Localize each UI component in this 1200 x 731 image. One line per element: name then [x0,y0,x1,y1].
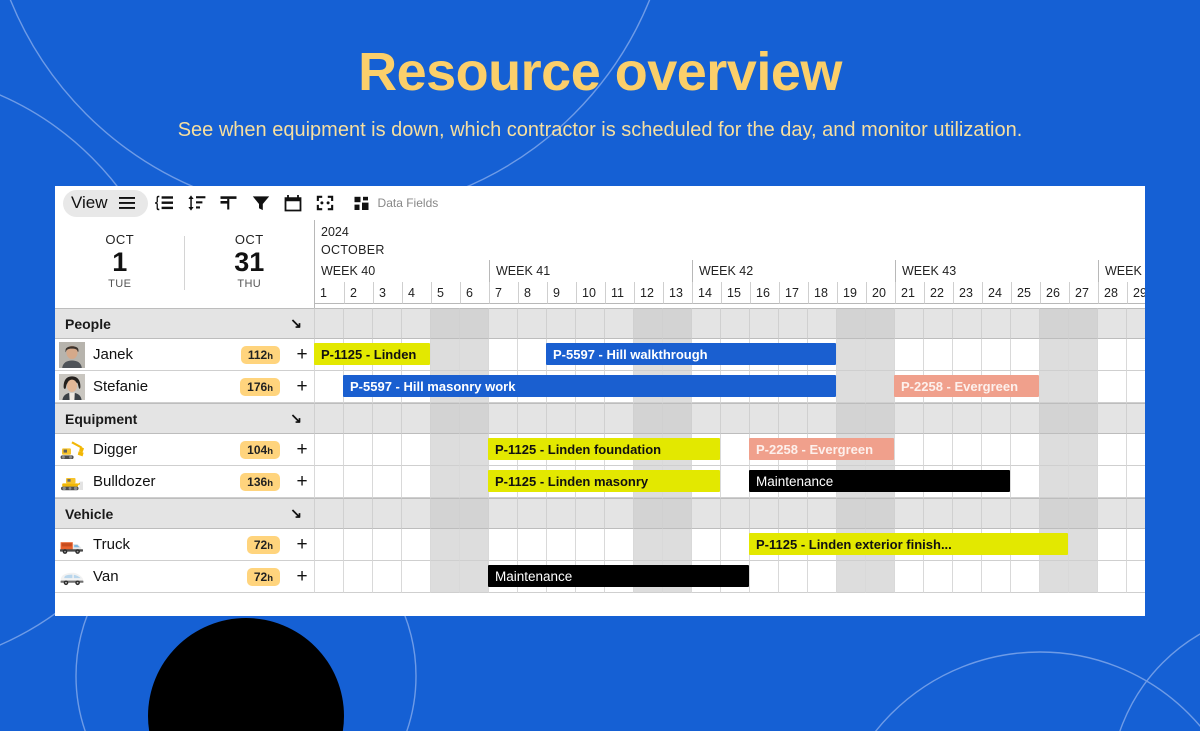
day-cell[interactable] [343,529,372,561]
day-cell[interactable] [575,529,604,561]
week-label: WEEK 4 [1098,260,1145,282]
day-cell[interactable] [952,339,981,371]
weekend-cell[interactable] [459,308,488,339]
collapse-arrow-icon[interactable]: ↘ [290,410,302,427]
day-cell[interactable] [691,308,720,339]
day-cell[interactable] [981,561,1010,593]
day-cell[interactable] [1126,308,1145,339]
day-cell[interactable] [401,529,430,561]
day-cell[interactable] [894,561,923,593]
weekend-cell[interactable] [836,371,865,403]
add-assignment-button[interactable]: + [290,471,314,493]
toolbar: View [55,186,1145,220]
weekend-cell[interactable] [865,498,894,529]
day-cell[interactable] [952,308,981,339]
day-cell[interactable] [894,308,923,339]
day-cell[interactable] [517,308,546,339]
deco-circle-bottom-right [830,652,1200,731]
day-cell[interactable] [314,498,343,529]
day-cell[interactable] [517,339,546,371]
day-column-header: 5 [431,282,460,304]
day-column-header: 2 [344,282,373,304]
weekend-cell[interactable] [459,529,488,561]
day-column-header: 10 [576,282,605,304]
day-column-header: 17 [779,282,808,304]
group-header-timeline-row [314,308,1145,339]
day-cell[interactable] [343,308,372,339]
day-cell[interactable] [749,308,778,339]
weekend-cell[interactable] [633,498,662,529]
day-cell[interactable] [575,308,604,339]
weekend-cell[interactable] [1068,403,1097,434]
day-column-header: 15 [721,282,750,304]
day-cell[interactable] [894,403,923,434]
group-header-timeline-row [314,403,1145,434]
task-bar[interactable]: P-5597 - Hill walkthrough [546,343,836,365]
day-cell[interactable] [894,498,923,529]
resource-timeline-row: P-5597 - Hill masonry workP-2258 - Everg… [314,371,1145,403]
add-assignment-button[interactable]: + [290,566,314,588]
day-cell[interactable] [778,561,807,593]
group-icon[interactable] [214,190,244,217]
day-cell[interactable] [314,529,343,561]
date-range-start: OCT 1 TUE [70,232,170,290]
task-bar[interactable]: P-2258 - Evergreen [894,375,1039,397]
day-cell[interactable] [546,498,575,529]
weekend-cell[interactable] [1068,308,1097,339]
add-assignment-button[interactable]: + [290,534,314,556]
day-cell[interactable] [488,403,517,434]
day-cell[interactable] [314,434,343,466]
day-cell[interactable] [720,498,749,529]
day-cell[interactable] [1010,403,1039,434]
weekend-cell[interactable] [865,339,894,371]
day-cell[interactable] [1097,339,1126,371]
day-cell[interactable] [1097,434,1126,466]
day-cell[interactable] [749,498,778,529]
weekend-cell[interactable] [1039,403,1068,434]
resource-timeline-row: P-1125 - LindenP-5597 - Hill walkthrough [314,339,1145,371]
weekend-cell[interactable] [1039,308,1068,339]
weekend-cell[interactable] [865,561,894,593]
start-dow: TUE [70,278,170,290]
weekend-cell[interactable] [1039,371,1068,403]
day-cell[interactable] [807,498,836,529]
weekend-cell[interactable] [459,466,488,498]
weekend-cell[interactable] [430,403,459,434]
gantt-app-window: View [55,186,1145,616]
weekend-cell[interactable] [865,403,894,434]
day-cell[interactable] [1010,339,1039,371]
day-cell[interactable] [314,561,343,593]
day-cell[interactable] [952,498,981,529]
day-cell[interactable] [807,561,836,593]
timeline-panel: P-1125 - LindenP-5597 - Hill walkthrough… [314,308,1145,593]
day-cell[interactable] [923,339,952,371]
group-name: Vehicle [65,506,113,522]
task-bar[interactable]: Maintenance [749,470,1010,492]
day-cell[interactable] [952,561,981,593]
weekend-cell[interactable] [1068,498,1097,529]
day-cell[interactable] [314,403,343,434]
hours-badge: 176h [240,378,280,396]
view-button-label: View [71,193,108,213]
timeline-scale: 2024 OCTOBER WEEK 40WEEK 41WEEK 42WEEK 4… [314,220,1145,308]
day-cell[interactable] [691,529,720,561]
day-cell[interactable] [720,434,749,466]
day-column-header: 13 [663,282,692,304]
resource-name: Stefanie [93,378,240,395]
day-column-header: 18 [808,282,837,304]
day-cell[interactable] [1097,529,1126,561]
day-cell[interactable] [488,529,517,561]
page-title: Resource overview [0,44,1200,101]
group-header-row[interactable]: Vehicle↘ [55,498,314,529]
data-fields-button[interactable]: Data Fields [352,190,439,217]
day-cell[interactable] [1097,466,1126,498]
weekend-cell[interactable] [459,339,488,371]
task-bar[interactable]: P-1125 - Linden foundation [488,438,720,460]
day-cell[interactable] [488,339,517,371]
add-assignment-button[interactable]: + [290,376,314,398]
day-cell[interactable] [923,434,952,466]
day-column-header: 21 [895,282,924,304]
day-cell[interactable] [981,403,1010,434]
day-cell[interactable] [923,561,952,593]
weekend-cell[interactable] [459,561,488,593]
weekend-cell[interactable] [459,498,488,529]
day-cell[interactable] [894,434,923,466]
weekend-cell[interactable] [1039,498,1068,529]
weekend-cell[interactable] [430,308,459,339]
day-cell[interactable] [981,339,1010,371]
day-cell[interactable] [1126,339,1145,371]
day-cell[interactable] [343,466,372,498]
day-cell[interactable] [401,466,430,498]
weekend-cell[interactable] [662,308,691,339]
task-bar[interactable]: Maintenance [488,565,749,587]
group-header-row[interactable]: Equipment↘ [55,403,314,434]
day-column-header: 25 [1011,282,1040,304]
icon-truck [59,532,85,558]
day-cell[interactable] [343,434,372,466]
day-cell[interactable] [546,403,575,434]
day-cell[interactable] [1010,308,1039,339]
day-cell[interactable] [1126,466,1145,498]
day-cell[interactable] [401,434,430,466]
gantt-body: People↘ Janek112h+ Stefanie176h+Equipmen… [55,308,1145,593]
day-cell[interactable] [372,498,401,529]
day-cell[interactable] [343,498,372,529]
resource-timeline-row: P-1125 - Linden exterior finish... [314,529,1145,561]
weekend-cell[interactable] [1068,529,1097,561]
day-cell[interactable] [401,403,430,434]
day-cell[interactable] [372,434,401,466]
day-cell[interactable] [372,561,401,593]
day-cell[interactable] [981,434,1010,466]
collapse-arrow-icon[interactable]: ↘ [290,315,302,332]
weekend-cell[interactable] [430,434,459,466]
day-cell[interactable] [372,529,401,561]
view-button[interactable]: View [63,190,148,217]
end-dow: THU [199,278,299,290]
hours-badge: 72h [247,568,280,586]
day-column-header: 22 [924,282,953,304]
weekend-cell[interactable] [836,561,865,593]
weekend-cell[interactable] [836,308,865,339]
day-cell[interactable] [1097,403,1126,434]
day-cell[interactable] [488,308,517,339]
resource-list-panel: People↘ Janek112h+ Stefanie176h+Equipmen… [55,308,314,593]
group-header-row[interactable]: People↘ [55,308,314,339]
day-cell[interactable] [401,308,430,339]
day-column-header: 3 [373,282,402,304]
data-fields-icon [352,190,372,217]
date-range-summary: OCT 1 TUE OCT 31 THU [55,220,314,308]
weekend-cell[interactable] [662,498,691,529]
task-bar[interactable]: P-2258 - Evergreen [749,438,894,460]
day-cell[interactable] [604,529,633,561]
day-cell[interactable] [807,308,836,339]
day-cell[interactable] [1097,498,1126,529]
day-cell[interactable] [372,403,401,434]
resource-timeline-row: Maintenance [314,561,1145,593]
day-column-header: 8 [518,282,547,304]
weekend-cell[interactable] [836,403,865,434]
resource-timeline-row: P-1125 - Linden masonryMaintenance [314,466,1145,498]
day-cell[interactable] [401,498,430,529]
day-cell[interactable] [343,403,372,434]
weekend-cell[interactable] [430,466,459,498]
weekend-cell[interactable] [836,498,865,529]
weekend-cell[interactable] [430,529,459,561]
collapse-arrow-icon[interactable]: ↘ [290,505,302,522]
day-cell[interactable] [1010,561,1039,593]
hours-badge: 104h [240,441,280,459]
day-cell[interactable] [1126,403,1145,434]
hours-badge: 112h [241,346,280,364]
day-cell[interactable] [952,403,981,434]
day-cell[interactable] [1010,498,1039,529]
hours-badge: 136h [240,473,280,491]
resource-name: Janek [93,346,241,363]
weekend-cell[interactable] [633,308,662,339]
day-column-header: 19 [837,282,866,304]
day-column-header: 9 [547,282,576,304]
day-cell[interactable] [894,339,923,371]
day-column-header: 16 [750,282,779,304]
day-column-header: 20 [866,282,895,304]
day-cell[interactable] [575,403,604,434]
resource-timeline-row: P-1125 - Linden foundationP-2258 - Everg… [314,434,1145,466]
day-column-grid [314,403,1145,434]
day-column-header: 28 [1098,282,1127,304]
deco-circle-far-right [1110,610,1200,731]
page-subtitle: See when equipment is down, which contra… [0,119,1200,142]
weekend-cell[interactable] [1068,371,1097,403]
day-cell[interactable] [517,498,546,529]
calendar-icon[interactable] [278,190,308,217]
resource-row[interactable]: Van72h+ [55,561,314,593]
week-label: WEEK 43 [895,260,1098,282]
resource-name: Truck [93,536,247,553]
timeline-weeks: WEEK 40WEEK 41WEEK 42WEEK 43WEEK 4 [315,260,1145,282]
day-column-header: 26 [1040,282,1069,304]
day-cell[interactable] [1097,561,1126,593]
day-cell[interactable] [488,498,517,529]
day-column-grid [314,434,1145,466]
day-cell[interactable] [981,308,1010,339]
weekend-cell[interactable] [633,403,662,434]
day-cell[interactable] [517,529,546,561]
icon-bulldozer [59,469,85,495]
weekend-cell[interactable] [1039,466,1068,498]
group-header-timeline-row [314,498,1145,529]
task-bar[interactable]: P-1125 - Linden [314,343,430,365]
day-cell[interactable] [981,498,1010,529]
filter-icon[interactable] [246,190,276,217]
weekend-cell[interactable] [1068,561,1097,593]
resource-row[interactable]: Digger104h+ [55,434,314,466]
day-cell[interactable] [546,308,575,339]
day-cell[interactable] [1126,434,1145,466]
day-cell[interactable] [575,498,604,529]
day-cell[interactable] [1010,434,1039,466]
day-cell[interactable] [691,403,720,434]
resource-row[interactable]: Truck72h+ [55,529,314,561]
icon-excavator [59,437,85,463]
day-cell[interactable] [343,561,372,593]
day-cell[interactable] [720,466,749,498]
week-label: WEEK 41 [489,260,692,282]
avatar-stefanie [59,374,85,400]
day-cell[interactable] [1126,529,1145,561]
day-column-header: 6 [460,282,489,304]
resource-row[interactable]: Janek112h+ [55,339,314,371]
day-cell[interactable] [517,403,546,434]
task-bar[interactable]: P-1125 - Linden exterior finish... [749,533,1068,555]
day-cell[interactable] [923,403,952,434]
task-bar[interactable]: P-5597 - Hill masonry work [343,375,836,397]
day-cell[interactable] [720,403,749,434]
day-cell[interactable] [1097,308,1126,339]
day-cell[interactable] [401,561,430,593]
day-column-header: 7 [489,282,518,304]
day-column-header: 14 [692,282,721,304]
day-column-header: 27 [1069,282,1098,304]
day-cell[interactable] [546,529,575,561]
weekend-cell[interactable] [633,529,662,561]
timeline-month: OCTOBER [315,239,1145,257]
day-cell[interactable] [778,498,807,529]
timeline-days: 1234567891011121314151617181920212223242… [315,282,1145,304]
day-cell[interactable] [807,403,836,434]
day-cell[interactable] [749,403,778,434]
day-column-header: 4 [402,282,431,304]
weekend-cell[interactable] [662,529,691,561]
day-cell[interactable] [372,308,401,339]
add-assignment-button[interactable]: + [290,439,314,461]
day-cell[interactable] [314,466,343,498]
week-label: WEEK 42 [692,260,895,282]
weekend-cell[interactable] [1039,561,1068,593]
day-column-grid [314,308,1145,339]
group-name: Equipment [65,411,137,427]
weekend-cell[interactable] [865,308,894,339]
day-cell[interactable] [952,434,981,466]
day-cell[interactable] [923,308,952,339]
day-cell[interactable] [1126,371,1145,403]
weekend-cell[interactable] [1039,434,1068,466]
add-assignment-button[interactable]: + [290,344,314,366]
day-cell[interactable] [1010,466,1039,498]
weekend-cell[interactable] [459,434,488,466]
group-name: People [65,316,111,332]
day-cell[interactable] [691,498,720,529]
weekend-cell[interactable] [1068,339,1097,371]
avatar-janek [59,342,85,368]
sort-icon[interactable] [182,190,212,217]
day-column-grid [314,498,1145,529]
data-fields-label: Data Fields [378,196,439,210]
day-column-header: 23 [953,282,982,304]
resource-row[interactable]: Bulldozer136h+ [55,466,314,498]
day-cell[interactable] [720,529,749,561]
day-cell[interactable] [1126,498,1145,529]
day-column-grid [314,466,1145,498]
resource-name: Van [93,568,247,585]
day-cell[interactable] [604,403,633,434]
day-cell[interactable] [1097,371,1126,403]
day-cell[interactable] [314,308,343,339]
weekend-cell[interactable] [1068,434,1097,466]
fit-to-screen-icon[interactable] [310,190,340,217]
weekend-cell[interactable] [1068,466,1097,498]
day-cell[interactable] [604,308,633,339]
day-cell[interactable] [778,403,807,434]
weekend-cell[interactable] [430,339,459,371]
end-day: 31 [199,247,299,278]
weekend-cell[interactable] [836,339,865,371]
day-cell[interactable] [1126,561,1145,593]
day-cell[interactable] [778,308,807,339]
day-cell[interactable] [720,308,749,339]
weekend-cell[interactable] [865,371,894,403]
outline-icon[interactable] [150,190,180,217]
date-range-end: OCT 31 THU [199,232,299,290]
start-month: OCT [70,232,170,247]
hours-badge: 72h [247,536,280,554]
day-column-header: 12 [634,282,663,304]
timeline-header: OCT 1 TUE OCT 31 THU 2024 OCTOBER WEEK 4… [55,220,1145,308]
weekend-cell[interactable] [430,561,459,593]
task-bar[interactable]: P-1125 - Linden masonry [488,470,720,492]
day-cell[interactable] [749,561,778,593]
timeline-year: 2024 [315,220,1145,239]
menu-icon[interactable] [116,190,138,217]
resource-row[interactable]: Stefanie176h+ [55,371,314,403]
weekend-cell[interactable] [430,498,459,529]
day-column-header: 29 [1127,282,1145,304]
day-cell[interactable] [923,498,952,529]
weekend-cell[interactable] [1039,339,1068,371]
weekend-cell[interactable] [459,403,488,434]
icon-van [59,564,85,590]
day-cell[interactable] [604,498,633,529]
weekend-cell[interactable] [662,403,691,434]
day-cell[interactable] [372,466,401,498]
day-cell[interactable] [314,371,343,403]
